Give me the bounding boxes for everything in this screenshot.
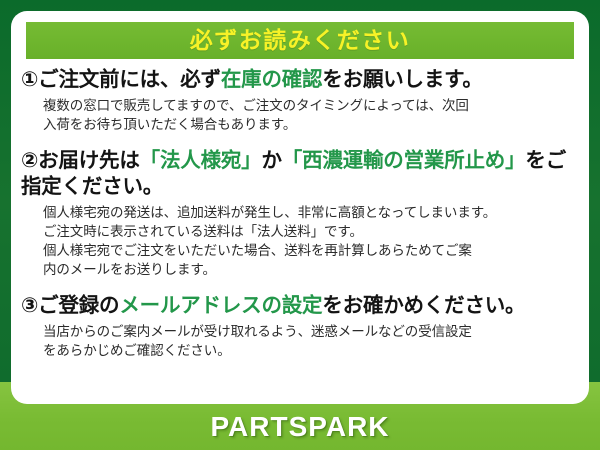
heading-segment-1: 在庫の確認 bbox=[221, 68, 323, 91]
header-title: 必ずお読みください bbox=[190, 29, 411, 52]
heading-segment-2: をお願いします。 bbox=[322, 68, 482, 91]
notice-item-3-heading: ③ご登録のメールアドレスの設定をお確かめください。 bbox=[21, 293, 581, 319]
description-line-1: 入荷をお待ち頂いただく場合もあります。 bbox=[43, 115, 581, 134]
description-line-0: 当店からのご案内メールが受け取れるよう、迷惑メールなどの受信設定 bbox=[43, 322, 581, 341]
notice-item-1-heading: ①ご注文前には、必ず在庫の確認をお願いします。 bbox=[21, 67, 581, 93]
description-line-0: 複数の窓口で販売してますので、ご注文のタイミングによっては、次回 bbox=[43, 96, 581, 115]
heading-segment-0: ③ご登録の bbox=[21, 294, 119, 317]
heading-segment-2: か bbox=[261, 149, 281, 172]
heading-segment-2: をお確かめください。 bbox=[322, 294, 525, 317]
description-line-3: 内のメールをお送りします。 bbox=[43, 260, 581, 279]
description-line-2: 個人様宅宛でご注文をいただいた場合、送料を再計算しあらためてご案 bbox=[43, 241, 581, 260]
notice-item-2-description: 個人様宅宛の発送は、追加送料が発生し、非常に高額となってしまいます。ご注文時に表… bbox=[21, 203, 581, 280]
notice-item-3-description: 当店からのご案内メールが受け取れるよう、迷惑メールなどの受信設定をあらかじめご確… bbox=[21, 322, 581, 360]
heading-segment-1: メールアドレスの設定 bbox=[119, 294, 322, 317]
description-line-1: ご注文時に表示されている送料は「法人送料」です。 bbox=[43, 222, 581, 241]
notice-card: 必ずお読みください ①ご注文前には、必ず在庫の確認をお願いします。 複数の窓口で… bbox=[11, 11, 589, 404]
notice-item-2: ②お届け先は「法人様宛」か「西濃運輸の営業所止め」をご指定ください。 個人様宅宛… bbox=[11, 148, 589, 280]
heading-segment-0: ②お届け先は bbox=[21, 149, 140, 172]
footer-logo-area: PARTSPARK bbox=[0, 404, 600, 450]
notice-item-3: ③ご登録のメールアドレスの設定をお確かめください。 当店からのご案内メールが受け… bbox=[11, 293, 589, 361]
header-bar: 必ずお読みください bbox=[26, 22, 574, 59]
heading-segment-1: 「法人様宛」 bbox=[140, 149, 262, 172]
notice-item-1: ①ご注文前には、必ず在庫の確認をお願いします。 複数の窓口で販売してますので、ご… bbox=[11, 67, 589, 135]
brand-logo-text: PARTSPARK bbox=[210, 411, 389, 443]
notice-body: ①ご注文前には、必ず在庫の確認をお願いします。 複数の窓口で販売してますので、ご… bbox=[11, 65, 589, 360]
notice-item-2-heading: ②お届け先は「法人様宛」か「西濃運輸の営業所止め」をご指定ください。 bbox=[21, 148, 581, 200]
description-line-0: 個人様宅宛の発送は、追加送料が発生し、非常に高額となってしまいます。 bbox=[43, 203, 581, 222]
heading-segment-3: 「西濃運輸の営業所止め」 bbox=[282, 149, 526, 172]
notice-item-1-description: 複数の窓口で販売してますので、ご注文のタイミングによっては、次回入荷をお待ち頂い… bbox=[21, 96, 581, 134]
heading-segment-0: ①ご注文前には、必ず bbox=[21, 68, 221, 91]
description-line-1: をあらかじめご確認ください。 bbox=[43, 341, 581, 360]
notice-banner: 必ずお読みください ①ご注文前には、必ず在庫の確認をお願いします。 複数の窓口で… bbox=[0, 0, 600, 450]
